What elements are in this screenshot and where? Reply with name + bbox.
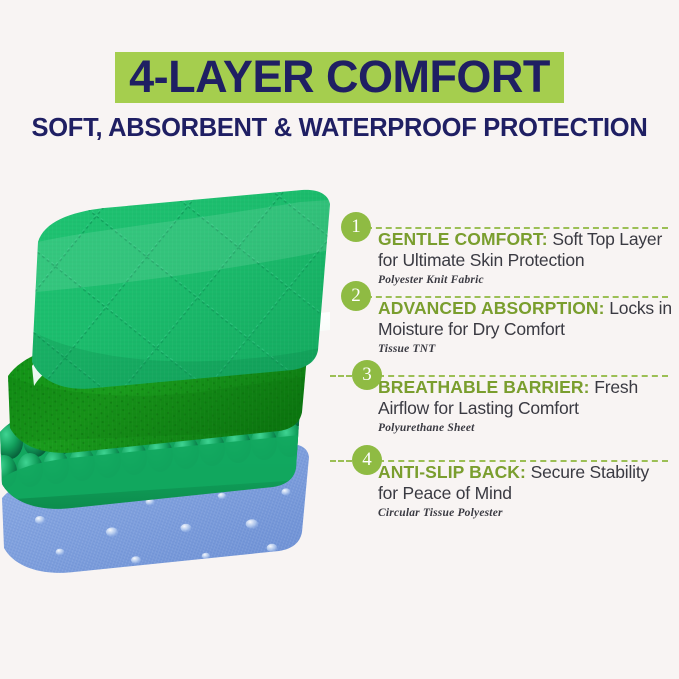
layer-gentle-comfort xyxy=(0,180,360,410)
callout-4-badge: 4 xyxy=(352,445,382,475)
callout-3-dashed-line-left xyxy=(330,375,352,377)
infographic-canvas: 4-LAYER COMFORT SOFT, ABSORBENT & WATERP… xyxy=(0,0,679,679)
layer-stack-graphic xyxy=(0,180,360,600)
callout-3-text: BREATHABLE BARRIER: Fresh Airflow for La… xyxy=(378,377,638,434)
callout-1-line-1: GENTLE COMFORT: Soft Top Layer xyxy=(378,229,662,250)
callout-4-heading: ANTI-SLIP BACK: xyxy=(378,462,526,482)
callout-2-material: Tissue TNT xyxy=(378,343,672,355)
callout-1-body-1: Soft Top Layer xyxy=(548,229,662,249)
callout-1-heading: GENTLE COMFORT: xyxy=(378,229,548,249)
callout-3-heading: BREATHABLE BARRIER: xyxy=(378,377,590,397)
callout-2-line-2: Moisture for Dry Comfort xyxy=(378,319,672,340)
page-subtitle: SOFT, ABSORBENT & WATERPROOF PROTECTION xyxy=(0,114,679,143)
callout-3-material: Polyurethane Sheet xyxy=(378,422,638,434)
callout-3-line-1: BREATHABLE BARRIER: Fresh xyxy=(378,377,638,398)
callout-2-text: ADVANCED ABSORPTION: Locks in Moisture f… xyxy=(378,298,672,355)
callout-4-dashed-line-left xyxy=(330,460,352,462)
callout-4-text: ANTI-SLIP BACK: Secure Stability for Pea… xyxy=(378,462,649,519)
callout-2-body-1: Locks in xyxy=(605,298,672,318)
callout-2-line-1: ADVANCED ABSORPTION: Locks in xyxy=(378,298,672,319)
callout-3-badge: 3 xyxy=(352,360,382,390)
callout-2-badge: 2 xyxy=(341,281,371,311)
callout-4-material: Circular Tissue Polyester xyxy=(378,507,649,519)
callout-4-body-1: Secure Stability xyxy=(526,462,649,482)
callout-3-line-2: Airflow for Lasting Comfort xyxy=(378,398,638,419)
callout-2-heading: ADVANCED ABSORPTION: xyxy=(378,298,605,318)
title-text: 4-LAYER COMFORT xyxy=(129,51,550,102)
callout-1-line-2: for Ultimate Skin Protection xyxy=(378,250,662,271)
callout-3-body-1: Fresh xyxy=(590,377,638,397)
page-title: 4-LAYER COMFORT xyxy=(0,52,679,103)
callout-1-material: Polyester Knit Fabric xyxy=(378,274,662,286)
callout-1-text: GENTLE COMFORT: Soft Top Layer for Ultim… xyxy=(378,229,662,286)
callout-1-badge: 1 xyxy=(341,212,371,242)
callout-4-line-1: ANTI-SLIP BACK: Secure Stability xyxy=(378,462,649,483)
title-highlight-band: 4-LAYER COMFORT xyxy=(115,52,564,103)
callout-4-line-2: for Peace of Mind xyxy=(378,483,649,504)
